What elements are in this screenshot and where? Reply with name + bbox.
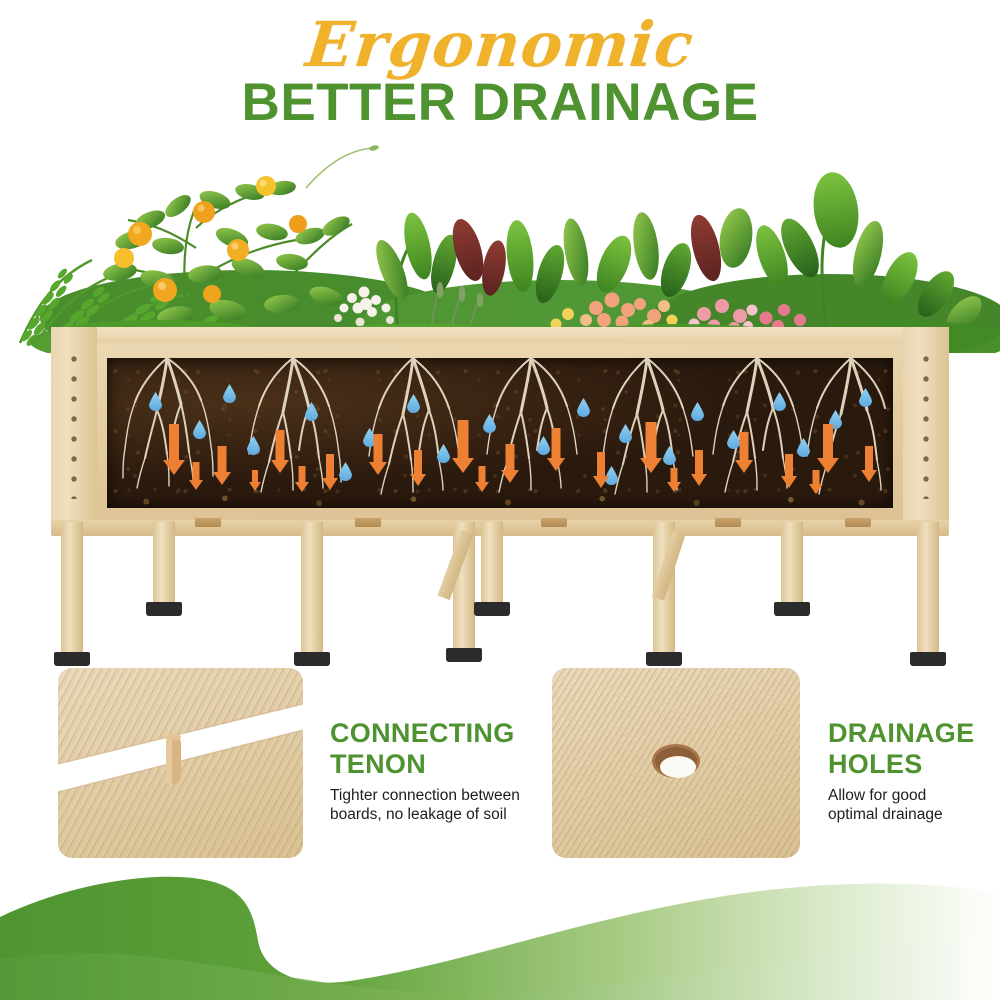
- planter-leg: [301, 522, 323, 654]
- soil-cross-section: [107, 358, 893, 508]
- wood-board-with-drilled-hole-image: [552, 668, 800, 858]
- planter-leg: [61, 522, 83, 654]
- feature-title-drainage-holes: DRAINAGE HOLES: [828, 718, 974, 780]
- page-script-title: Ergonomic: [0, 8, 1000, 81]
- feature-description-drainage-holes: Allow for good optimal drainage: [828, 786, 943, 824]
- raised-garden-bed: [55, 336, 945, 656]
- planter-foot: [474, 602, 510, 616]
- screw-hole-column: [923, 349, 929, 499]
- drilled-hole: [652, 744, 700, 778]
- connecting-tenon-peg: [541, 518, 567, 527]
- page-title: BETTER DRAINAGE: [0, 72, 1000, 133]
- planter-corner-post-left: [51, 327, 97, 526]
- feature-description-connecting-tenon: Tighter connection between boards, no le…: [330, 786, 520, 824]
- drainage-hole-illustration: [552, 668, 800, 858]
- screw-hole-column: [71, 349, 77, 499]
- connecting-tenon-peg: [845, 518, 871, 527]
- planter-corner-post-right: [903, 327, 949, 526]
- feature-connecting-tenon: CONNECTING TENON Tighter connection betw…: [0, 660, 520, 865]
- tenon-joint-illustration: [58, 668, 303, 858]
- planter-leg: [153, 522, 175, 604]
- planter-leg: [781, 522, 803, 604]
- feature-drainage-holes: DRAINAGE HOLES Allow for good optimal dr…: [520, 660, 1000, 865]
- planter-foot: [146, 602, 182, 616]
- planter-foot: [774, 602, 810, 616]
- planter-leg: [917, 522, 939, 654]
- header-banner: Ergonomic BETTER DRAINAGE: [0, 0, 1000, 130]
- wood-boards-with-dowel-tenon-image: [58, 668, 303, 858]
- plant-root-system: [107, 358, 893, 508]
- dowel-peg: [166, 734, 181, 784]
- connecting-tenon-peg: [715, 518, 741, 527]
- product-hero-image: [0, 128, 1000, 653]
- planter-top-rim: [51, 327, 949, 343]
- connecting-tenon-peg: [195, 518, 221, 527]
- planter-leg-assembly: [55, 522, 945, 662]
- planted-greenery: [0, 128, 1000, 353]
- feature-callouts: CONNECTING TENON Tighter connection betw…: [0, 660, 1000, 865]
- planter-box: [55, 336, 945, 526]
- bottom-green-wave: [0, 855, 1000, 1000]
- planter-leg: [481, 522, 503, 604]
- connecting-tenon-peg: [355, 518, 381, 527]
- feature-title-connecting-tenon: CONNECTING TENON: [330, 718, 515, 780]
